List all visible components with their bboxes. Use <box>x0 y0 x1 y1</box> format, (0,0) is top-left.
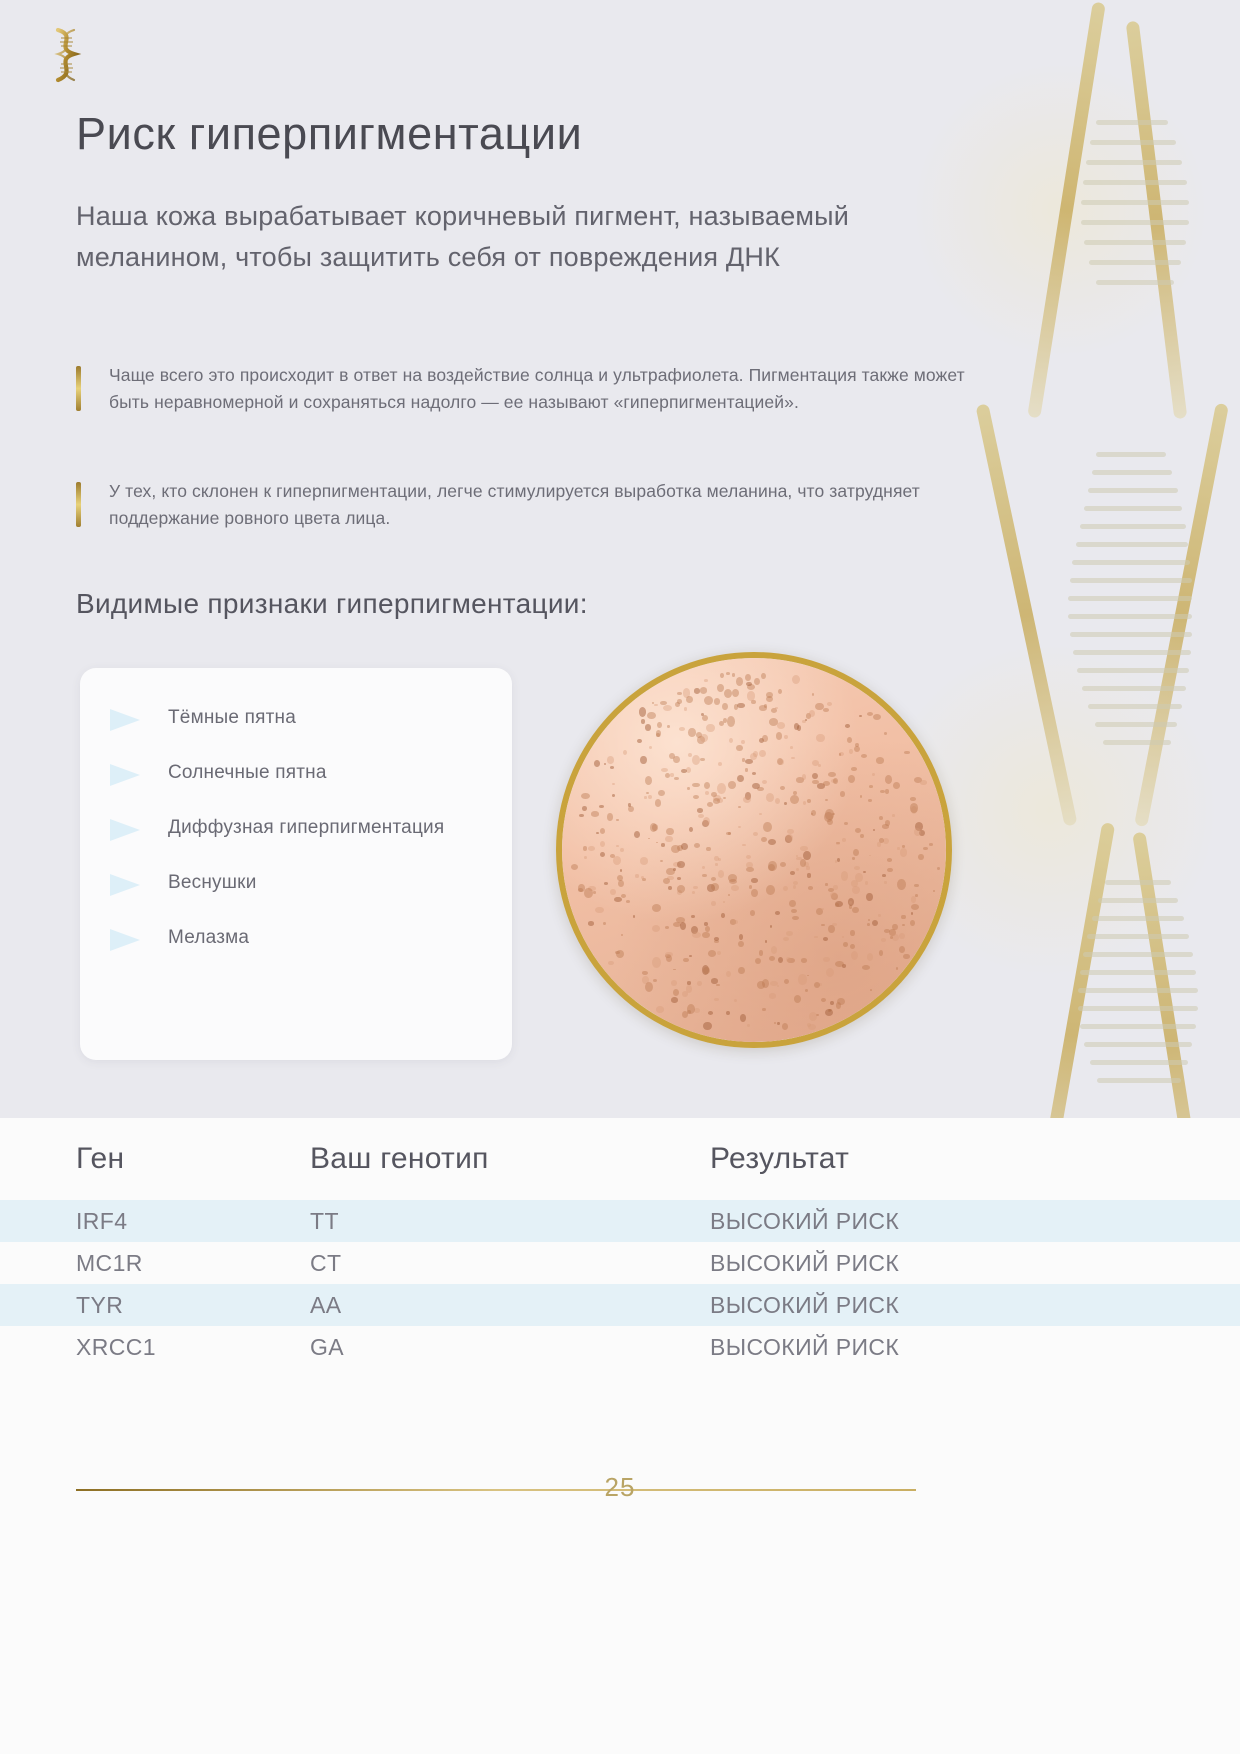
quote-block-2: У тех, кто склонен к гиперпигментации, л… <box>76 478 976 531</box>
list-item: Солнечные пятна <box>108 759 484 788</box>
page-subtitle: Наша кожа вырабатывает коричневый пигмен… <box>76 196 956 278</box>
cell-genotype: AA <box>310 1284 710 1326</box>
sign-label: Тёмные пятна <box>168 704 296 732</box>
list-item: Тёмные пятна <box>108 704 484 733</box>
table-row: XRCC1 GA ВЫСОКИЙ РИСК <box>0 1326 1240 1368</box>
cell-result: ВЫСОКИЙ РИСК <box>710 1326 1240 1368</box>
skin-closeup-photo <box>556 652 952 1048</box>
cell-genotype: GA <box>310 1326 710 1368</box>
genotype-results-table: Ген Ваш генотип Результат IRF4 TT ВЫСОКИ… <box>0 1118 1240 1368</box>
signs-section-heading: Видимые признаки гиперпигментации: <box>76 588 588 620</box>
table-bottom-spacer <box>0 1368 1240 1458</box>
table-header: Ген Ваш генотип Результат <box>0 1118 1240 1200</box>
triangle-arrow-icon <box>108 707 148 733</box>
sign-label: Диффузная гиперпигментация <box>168 814 444 842</box>
gold-accent-bar <box>76 482 81 527</box>
sign-label: Веснушки <box>168 869 257 897</box>
cell-gene: TYR <box>0 1284 310 1326</box>
list-item: Мелазма <box>108 924 484 953</box>
triangle-arrow-icon <box>108 817 148 843</box>
cell-genotype: TT <box>310 1200 710 1242</box>
cell-genotype: CT <box>310 1242 710 1284</box>
table-row: MC1R CT ВЫСОКИЙ РИСК <box>0 1242 1240 1284</box>
table-body: IRF4 TT ВЫСОКИЙ РИСК MC1R CT ВЫСОКИЙ РИС… <box>0 1200 1240 1368</box>
signs-list-card: Тёмные пятна Солнечные пятна Диффузная г… <box>80 668 512 1060</box>
table-header-row: Ген Ваш генотип Результат <box>0 1118 1240 1200</box>
column-header-gene: Ген <box>0 1118 310 1200</box>
cell-gene: IRF4 <box>0 1200 310 1242</box>
quote-block-1: Чаще всего это происходит в ответ на воз… <box>76 362 996 415</box>
column-header-result: Результат <box>710 1118 1240 1200</box>
quote-text: Чаще всего это происходит в ответ на воз… <box>109 362 996 415</box>
sign-label: Солнечные пятна <box>168 759 327 787</box>
dna-helix-logo-icon <box>44 24 90 88</box>
cell-result: ВЫСОКИЙ РИСК <box>710 1200 1240 1242</box>
quote-text: У тех, кто склонен к гиперпигментации, л… <box>109 478 976 531</box>
gold-accent-bar <box>76 366 81 411</box>
triangle-arrow-icon <box>108 762 148 788</box>
list-item: Диффузная гиперпигментация <box>108 814 484 843</box>
cell-result: ВЫСОКИЙ РИСК <box>710 1284 1240 1326</box>
freckle-overlay <box>562 658 946 1042</box>
table-row: TYR AA ВЫСОКИЙ РИСК <box>0 1284 1240 1326</box>
cell-result: ВЫСОКИЙ РИСК <box>710 1242 1240 1284</box>
triangle-arrow-icon <box>108 927 148 953</box>
column-header-genotype: Ваш генотип <box>310 1118 710 1200</box>
list-item: Веснушки <box>108 869 484 898</box>
triangle-arrow-icon <box>108 872 148 898</box>
sign-label: Мелазма <box>168 924 249 952</box>
genotype-results-table-wrapper: Ген Ваш генотип Результат IRF4 TT ВЫСОКИ… <box>0 1118 1240 1458</box>
cell-gene: MC1R <box>0 1242 310 1284</box>
table-row: IRF4 TT ВЫСОКИЙ РИСК <box>0 1200 1240 1242</box>
page-title: Риск гиперпигментации <box>76 108 582 160</box>
cell-gene: XRCC1 <box>0 1326 310 1368</box>
page-number: 25 <box>0 1472 1240 1503</box>
